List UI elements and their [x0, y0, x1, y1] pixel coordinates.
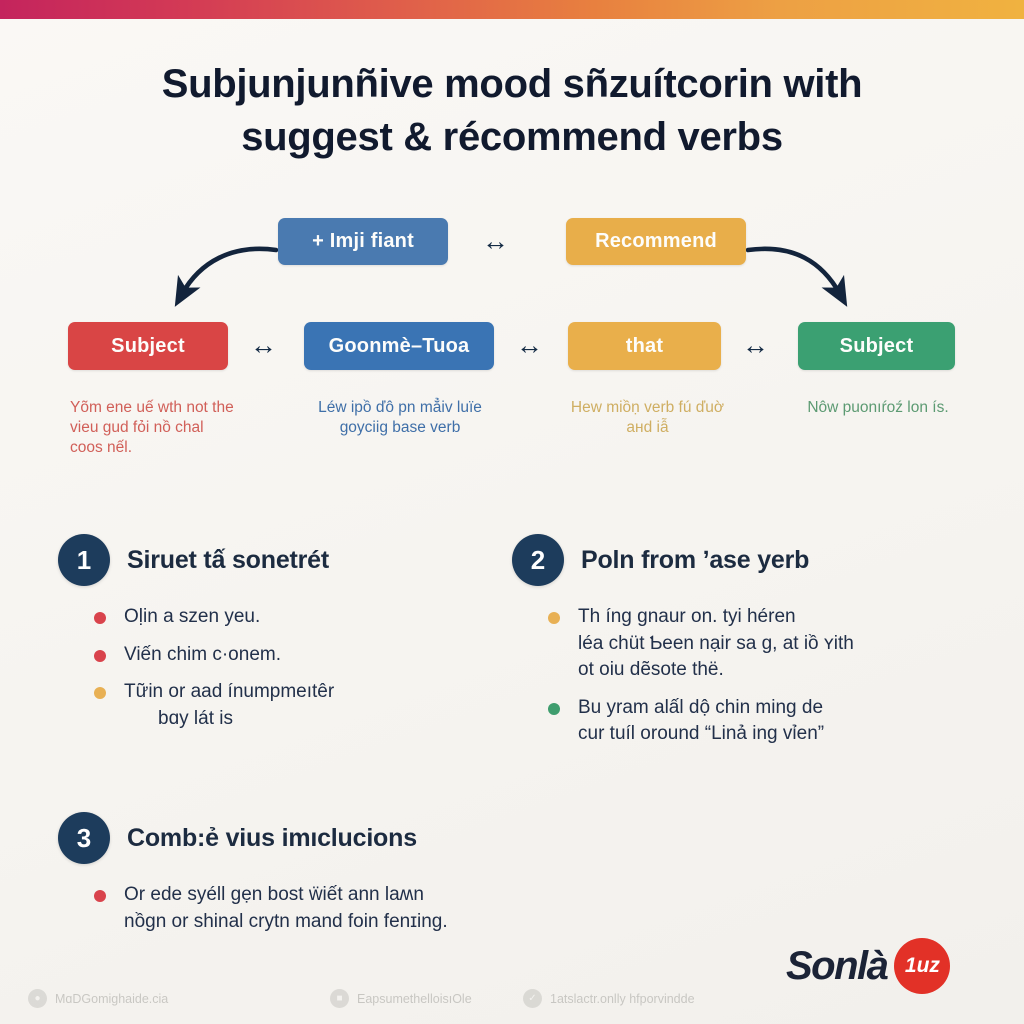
list-item-line-2: cur tuíl oround “Linả ing vỉen” — [578, 723, 824, 744]
section-2-header: 2 Poln from ʼase yerb — [512, 534, 982, 586]
footer-item-1[interactable]: ■ EapsumethelloisıOle — [330, 989, 472, 1008]
list-item: Or ede syéll gẹn bost ẅiết ann laʍn nồgn… — [94, 882, 598, 935]
section-3-number: 3 — [58, 812, 110, 864]
bullet-dot-icon — [548, 703, 560, 715]
caption-construction: Léw ipồ ďô pn mẳiv luïe goyciig base ver… — [305, 398, 495, 438]
list-item-text: Oḷin a szen yeu. — [124, 604, 260, 631]
pill-important[interactable]: + Imji fiant — [278, 218, 448, 265]
arrow-icon-top: ↔ — [482, 228, 509, 255]
pill-recommend[interactable]: Recommend — [566, 218, 746, 265]
footer-item-label: 1atslactr.onlly hfporvindde — [550, 992, 695, 1006]
list-item-line-1: Or ede syéll gẹn bost ẅiết ann laʍn — [124, 884, 424, 905]
check-icon: ✓ — [523, 989, 542, 1008]
list-item-line-2: bɑy lát is — [124, 706, 334, 733]
list-item-line-2: léa chüt Ƅeen nạir sa g, at iồ ʏith — [578, 633, 854, 654]
section-1-title: Siruet tấ sonetrét — [127, 546, 329, 575]
list-item: Oḷin a szen yeu. — [94, 604, 508, 631]
list-item-text: Th íng gnaur on. tyi héren léa chüt Ƅeen… — [578, 604, 854, 684]
logo-wordmark: Sonlà — [786, 944, 887, 989]
footer-item-2[interactable]: ✓ 1atslactr.onlly hfporvindde — [523, 989, 695, 1008]
section-3-title: Comb:ẻ vius imıclucions — [127, 824, 417, 853]
section-2-title: Poln from ʼase yerb — [581, 546, 809, 575]
caption-subject-right: Nôw puonıŕoź lon ís. — [792, 398, 964, 418]
footer-item-label: MɑDGomighaide.cia — [55, 992, 168, 1006]
logo-badge: 1uz — [894, 938, 950, 994]
section-1-bullets: Oḷin a szen yeu. Viến chim c·onem. Tữin … — [58, 604, 508, 732]
list-item-line-1: Bu yram alấl dộ chin ming de — [578, 697, 823, 718]
section-1-number: 1 — [58, 534, 110, 586]
list-item-line-3: ot oiu dẽsote thë. — [578, 659, 724, 680]
section-2: 2 Poln from ʼase yerb Th íng gnaur on. t… — [512, 534, 982, 759]
arrow-icon-3: ↔ — [742, 332, 769, 359]
bullet-dot-icon — [94, 687, 106, 699]
title-line-1: Subjunjunñive mood sñzuítcorin with — [162, 62, 863, 106]
footer-item-label: EapsumethelloisıOle — [357, 992, 472, 1006]
caption-that: Hew miồṇ verb fú ďuờ aнd iẫ — [560, 398, 735, 438]
infographic-page: Subjunjunñive mood sñzuítcorin with sugg… — [0, 0, 1024, 1024]
page-title: Subjunjunñive mood sñzuítcorin with sugg… — [62, 58, 962, 164]
pill-that[interactable]: that — [568, 322, 721, 370]
pill-subject-right[interactable]: Subject — [798, 322, 955, 370]
arrow-icon-1: ↔ — [250, 332, 277, 359]
pill-construction[interactable]: Goonmè–Tuoa — [304, 322, 494, 370]
list-item-text: Tữin or aad ínumpmeıtêr bɑy lát is — [124, 679, 334, 732]
bullet-dot-icon — [94, 650, 106, 662]
list-item-text: Viến chim c·onem. — [124, 642, 281, 669]
bullet-dot-icon — [94, 612, 106, 624]
brand-logo[interactable]: Sonlà 1uz — [786, 938, 950, 994]
list-item: Tữin or aad ínumpmeıtêr bɑy lát is — [94, 679, 508, 732]
caption-subject-left: Yõm ene uế wth not the vieu gud fỏi nồ c… — [70, 398, 238, 458]
arrow-icon-2: ↔ — [516, 332, 543, 359]
globe-icon: ● — [28, 989, 47, 1008]
section-2-number: 2 — [512, 534, 564, 586]
list-item: Viến chim c·onem. — [94, 642, 508, 669]
sentence-structure-diagram: + Imji fiant ↔ Recommend Subject ↔ Goonm… — [0, 200, 1024, 500]
list-item-line-1: Tữin or aad ínumpmeıtêr — [124, 681, 334, 702]
section-1-header: 1 Siruet tấ sonetrét — [58, 534, 508, 586]
top-gradient-bar — [0, 0, 1024, 19]
list-item: Th íng gnaur on. tyi héren léa chüt Ƅeen… — [548, 604, 982, 684]
footer-item-0[interactable]: ● MɑDGomighaide.cia — [28, 989, 168, 1008]
bullet-dot-icon — [94, 890, 106, 902]
title-line-2: suggest & récommend verbs — [62, 111, 962, 164]
section-3: 3 Comb:ẻ vius imıclucions Or ede syéll g… — [58, 812, 598, 946]
section-2-bullets: Th íng gnaur on. tyi héren léa chüt Ƅeen… — [512, 604, 982, 748]
section-1: 1 Siruet tấ sonetrét Oḷin a szen yeu. Vi… — [58, 534, 508, 743]
section-3-bullets: Or ede syéll gẹn bost ẅiết ann laʍn nồgn… — [58, 882, 598, 935]
list-item-line-2: nồgn or shinal crytn mand foin fenɪing. — [124, 911, 448, 932]
list-item-text: Bu yram alấl dộ chin ming de cur tuíl or… — [578, 695, 824, 748]
section-3-header: 3 Comb:ẻ vius imıclucions — [58, 812, 598, 864]
list-item-line-1: Th íng gnaur on. tyi héren — [578, 606, 796, 627]
list-item: Bu yram alấl dộ chin ming de cur tuíl or… — [548, 695, 982, 748]
list-item-text: Or ede syéll gẹn bost ẅiết ann laʍn nồgn… — [124, 882, 448, 935]
document-icon: ■ — [330, 989, 349, 1008]
bullet-dot-icon — [548, 612, 560, 624]
pill-subject-left[interactable]: Subject — [68, 322, 228, 370]
